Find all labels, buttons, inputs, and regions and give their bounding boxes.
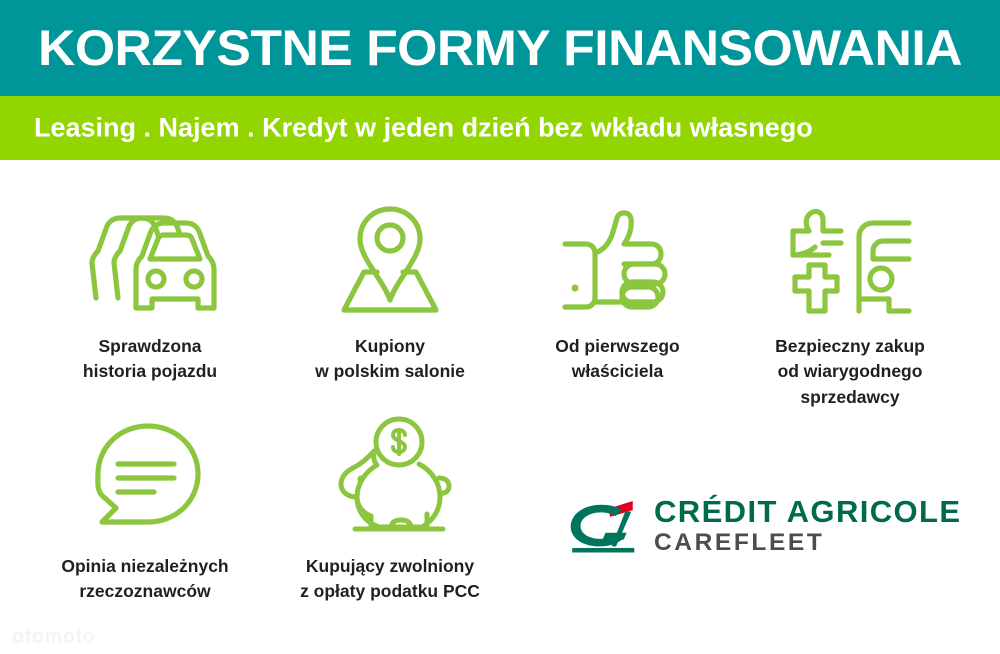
feature-caption: Kupiony w polskim salonie [275,334,505,385]
credit-agricole-wordmark: CRÉDIT AGRICOLE CAREFLEET [654,496,961,556]
feature-caption: Od pierwszego właściciela [505,334,730,385]
page-title: KORZYSTNE FORMY FINANSOWANIA [38,23,962,73]
feature-item-kupiony-w-polskim-salonie: Kupiony w polskim salonie [275,198,505,385]
logo-line-secondary: CAREFLEET [654,529,961,556]
feature-item-bezpieczny-zakup: Bezpieczny zakup od wiarygodnego sprzeda… [730,198,970,410]
credit-agricole-mark [566,498,642,554]
feature-item-opinia-niezaleznych-rzeczoznawcow: Opinia niezależnych rzeczoznawców [25,418,265,605]
feature-caption: Sprawdzona historia pojazdu [35,334,265,385]
piggy-bank-icon [275,418,505,538]
thumbs-up-icon [505,198,730,318]
logo-line-primary: CRÉDIT AGRICOLE [654,496,961,529]
feature-grid: Sprawdzona historia pojazdu Kupiony w po… [0,160,1000,654]
feature-caption: Opinia niezależnych rzeczoznawców [25,554,265,605]
subheadline-band: Leasing . Najem . Kredyt w jeden dzień b… [0,96,1000,160]
promo-banner: KORZYSTNE FORMY FINANSOWANIA Leasing . N… [0,0,1000,654]
feature-item-sprawdzona-historia-pojazdu: Sprawdzona historia pojazdu [35,198,265,385]
watermark: otomoto [12,626,95,649]
feature-caption: Kupujący zwolniony z opłaty podatku PCC [275,554,505,605]
feature-item-kupujacy-zwolniony-z-pcc: Kupujący zwolniony z opłaty podatku PCC [275,418,505,605]
map-pin-icon [275,198,505,318]
headline-band: KORZYSTNE FORMY FINANSOWANIA [0,0,1000,96]
thumb-car-icon [730,198,970,318]
credit-agricole-logo: CRÉDIT AGRICOLE CAREFLEET [566,492,956,560]
cars-icon [35,198,265,318]
feature-caption: Bezpieczny zakup od wiarygodnego sprzeda… [730,334,970,410]
page-subtitle: Leasing . Najem . Kredyt w jeden dzień b… [34,115,813,142]
feature-item-od-pierwszego-wlasciciela: Od pierwszego właściciela [505,198,730,385]
speech-bubble-icon [25,418,265,538]
